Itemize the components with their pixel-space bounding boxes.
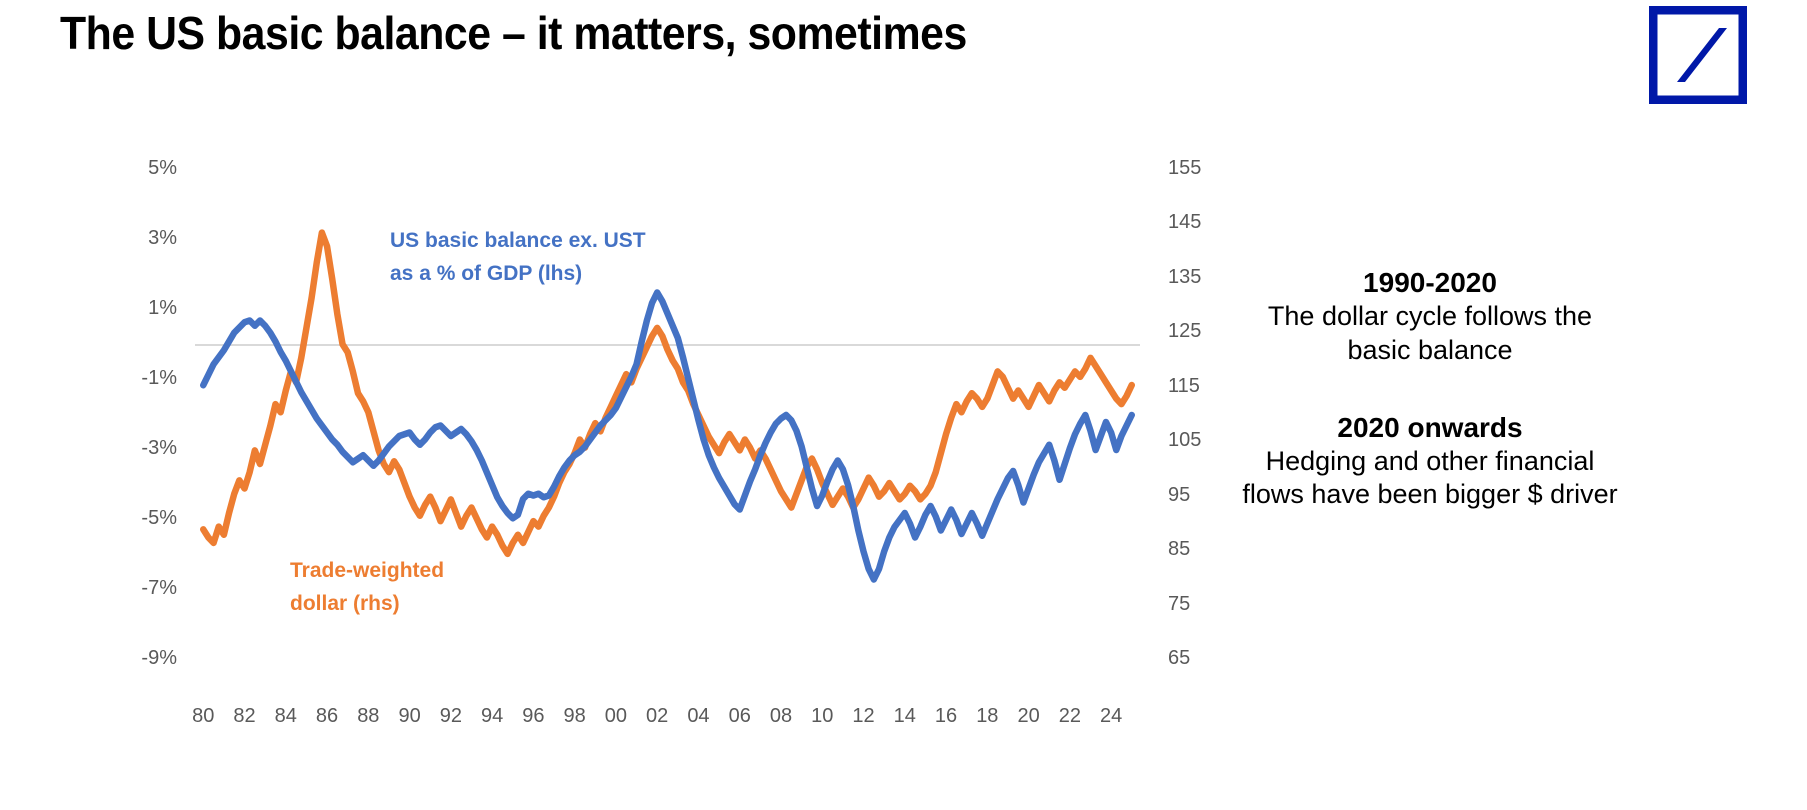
x-axis-tick: 00 <box>596 705 636 728</box>
legend-blue-line-1: US basic balance ex. UST <box>390 225 646 258</box>
x-axis-tick: 84 <box>266 705 306 728</box>
note-1-body-line-2: basic balance <box>1085 334 1775 368</box>
legend-trade-weighted-dollar: Trade-weighted dollar (rhs) <box>290 555 444 620</box>
right-axis-tick: 155 <box>1168 157 1238 180</box>
note-1-body-line-1: The dollar cycle follows the <box>1085 300 1775 334</box>
logo-diagonal-slash <box>1677 28 1727 82</box>
x-axis-tick: 02 <box>637 705 677 728</box>
x-axis-tick: 92 <box>431 705 471 728</box>
x-axis-tick: 04 <box>678 705 718 728</box>
x-axis-tick: 20 <box>1009 705 1049 728</box>
right-axis-tick: 85 <box>1168 538 1238 561</box>
page-title: The US basic balance – it matters, somet… <box>60 6 967 60</box>
x-axis-tick: 80 <box>183 705 223 728</box>
x-axis-tick: 86 <box>307 705 347 728</box>
legend-orange-line-1: Trade-weighted <box>290 555 444 588</box>
x-axis-tick: 06 <box>720 705 760 728</box>
x-axis-tick: 22 <box>1050 705 1090 728</box>
right-axis-tick: 65 <box>1168 647 1238 670</box>
legend-blue-line-2: as a % of GDP (lhs) <box>390 258 646 291</box>
x-axis-tick: 88 <box>348 705 388 728</box>
deutsche-bank-logo <box>1649 6 1747 104</box>
left-axis-tick: -3% <box>107 437 177 460</box>
right-axis-tick: 75 <box>1168 593 1238 616</box>
x-axis-tick: 98 <box>555 705 595 728</box>
left-axis-tick: -5% <box>107 507 177 530</box>
note-2: 2020 onwards Hedging and other financial… <box>1085 410 1775 513</box>
x-axis-tick: 24 <box>1091 705 1131 728</box>
note-1: 1990-2020 The dollar cycle follows the b… <box>1085 265 1775 368</box>
left-axis-tick: 1% <box>107 297 177 320</box>
x-axis-tick: 08 <box>761 705 801 728</box>
right-axis-tick: 145 <box>1168 211 1238 234</box>
legend-us-basic-balance: US basic balance ex. UST as a % of GDP (… <box>390 225 646 290</box>
deutsche-bank-logo-svg <box>1649 6 1747 104</box>
x-axis-tick: 94 <box>472 705 512 728</box>
x-axis-tick: 18 <box>967 705 1007 728</box>
left-axis-tick: -9% <box>107 647 177 670</box>
x-axis-tick: 10 <box>802 705 842 728</box>
left-axis-tick: -7% <box>107 577 177 600</box>
side-notes-block: 1990-2020 The dollar cycle follows the b… <box>1085 265 1775 512</box>
left-axis-tick: 3% <box>107 227 177 250</box>
legend-orange-line-2: dollar (rhs) <box>290 588 444 621</box>
note-2-heading: 2020 onwards <box>1085 410 1775 445</box>
note-1-heading: 1990-2020 <box>1085 265 1775 300</box>
x-axis-tick: 12 <box>844 705 884 728</box>
note-2-body-line-1: Hedging and other financial <box>1085 445 1775 479</box>
x-axis-tick: 82 <box>225 705 265 728</box>
dual-axis-line-chart: 5%3%1%-1%-3%-5%-7%-9% 155145135125115105… <box>0 150 1200 810</box>
x-axis-tick: 14 <box>885 705 925 728</box>
x-axis-tick: 16 <box>926 705 966 728</box>
left-axis-tick: -1% <box>107 367 177 390</box>
note-spacer <box>1085 368 1775 410</box>
x-axis-tick: 96 <box>513 705 553 728</box>
x-axis-tick: 90 <box>390 705 430 728</box>
left-axis-tick: 5% <box>107 157 177 180</box>
note-2-body-line-2: flows have been bigger $ driver <box>1085 478 1775 512</box>
